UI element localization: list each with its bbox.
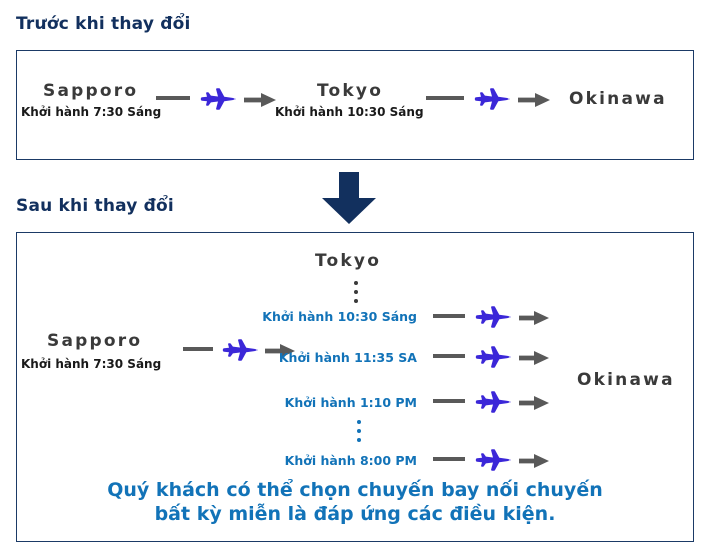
route-dash xyxy=(433,399,465,403)
arrow-right-icon xyxy=(519,395,549,414)
vertical-ellipsis-icon xyxy=(354,281,358,308)
caption-line-1: Quý khách có thể chọn chuyến bay nối chu… xyxy=(0,478,710,502)
route-dash xyxy=(183,347,213,351)
arrow-right-icon xyxy=(519,453,549,472)
caption-note: Quý khách có thể chọn chuyến bay nối chu… xyxy=(0,478,710,526)
departure-label-sapporo: Khởi hành 7:30 Sáng xyxy=(21,105,161,119)
destination-label-okinawa: Okinawa xyxy=(577,370,675,390)
option-departure-label-3[interactable]: Khởi hành 1:10 PM xyxy=(227,395,417,410)
option-departure-label-4[interactable]: Khởi hành 8:00 PM xyxy=(227,453,417,468)
connector-option-4 xyxy=(433,446,573,472)
origin-departure-label: Khởi hành 7:30 Sáng xyxy=(21,357,161,371)
airplane-icon xyxy=(198,85,238,115)
caption-line-2: bất kỳ miễn là đáp ứng các điều kiện. xyxy=(0,502,710,526)
route-dash xyxy=(433,354,465,358)
connector-option-1 xyxy=(433,303,573,329)
departure-label-tokyo: Khởi hành 10:30 Sáng xyxy=(275,105,424,119)
arrow-right-icon xyxy=(518,92,550,111)
route-dash xyxy=(426,96,464,100)
airplane-icon xyxy=(473,343,513,373)
route-dash xyxy=(156,96,190,100)
origin-label-sapporo: Sapporo xyxy=(47,331,142,351)
hub-label-tokyo: Tokyo xyxy=(315,251,381,271)
option-departure-label-1[interactable]: Khởi hành 10:30 Sáng xyxy=(227,309,417,324)
city-label-sapporo: Sapporo xyxy=(43,81,138,101)
connector-sapporo-tokyo xyxy=(156,85,276,111)
airplane-icon xyxy=(473,303,513,333)
vertical-ellipsis-icon xyxy=(357,420,361,447)
down-arrow-icon xyxy=(318,172,380,224)
connector-option-2 xyxy=(433,343,573,369)
arrow-right-icon xyxy=(244,92,276,111)
heading-before-change: Trước khi thay đổi xyxy=(16,14,191,34)
arrow-right-icon xyxy=(519,310,549,329)
route-dash xyxy=(433,457,465,461)
connector-option-3 xyxy=(433,388,573,414)
option-departure-label-2[interactable]: Khởi hành 11:35 SA xyxy=(227,350,417,365)
airplane-icon xyxy=(473,446,513,476)
connector-tokyo-okinawa xyxy=(426,85,556,111)
panel-before-change: Sapporo Khởi hành 7:30 Sáng Tokyo Khởi h… xyxy=(16,50,694,160)
city-label-tokyo: Tokyo xyxy=(317,81,383,101)
city-label-okinawa: Okinawa xyxy=(569,89,667,109)
airplane-icon xyxy=(472,85,512,115)
heading-after-change: Sau khi thay đổi xyxy=(16,196,174,216)
arrow-right-icon xyxy=(519,350,549,369)
route-dash xyxy=(433,314,465,318)
airplane-icon xyxy=(473,388,513,418)
